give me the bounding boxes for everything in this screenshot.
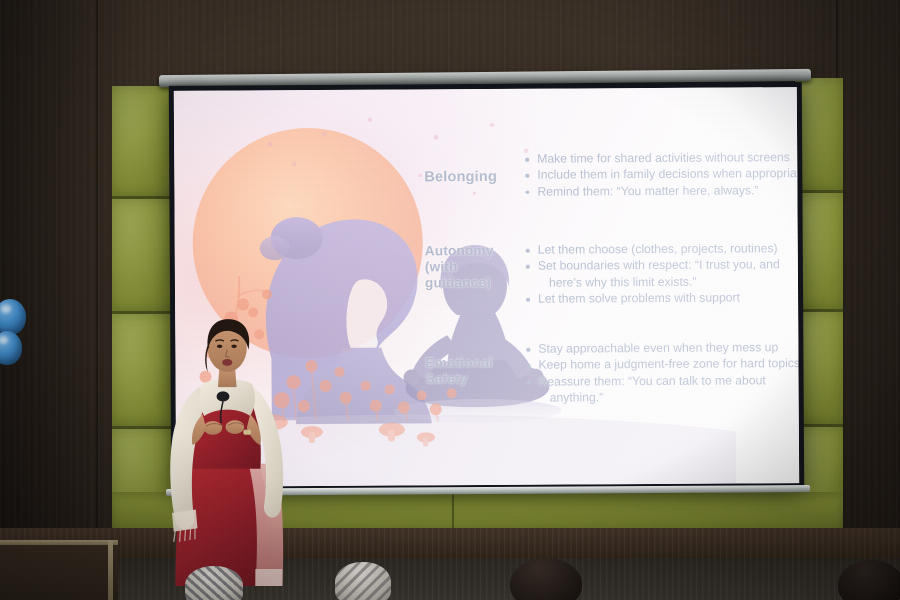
bullet-item: Stay approachable even when they mess up xyxy=(525,339,799,357)
podium-left-edge xyxy=(108,540,113,600)
audience-topi-cap xyxy=(185,566,243,600)
bullet-item-continuation: anything.” xyxy=(526,388,800,406)
bullet-item: Make time for shared activities without … xyxy=(524,149,799,167)
lapel-microphone-icon xyxy=(217,391,230,401)
presenter-eye-right xyxy=(231,345,236,348)
bullet-item: Keep home a judgment-free zone for hard … xyxy=(525,355,799,373)
acoustic-panel xyxy=(112,86,174,196)
presenter-pallu-fringe xyxy=(255,569,282,586)
audience-topi-cap xyxy=(335,562,391,600)
presenter-wristwatch xyxy=(243,430,251,435)
panel-seam xyxy=(452,492,454,530)
slide-section-belonging: Belonging Make time for shared activitie… xyxy=(174,149,797,153)
seminar-photo-scene: Belonging Make time for shared activitie… xyxy=(0,0,900,600)
acoustic-panel xyxy=(112,199,174,311)
presenter-eye-left xyxy=(217,345,222,348)
podium-top-edge xyxy=(0,540,118,545)
floor-shadow-band xyxy=(0,558,900,600)
bullet-item: Let them choose (clothes, projects, rout… xyxy=(525,240,780,258)
slide-section-autonomy: Autonomy (with guidance) Let them choose… xyxy=(175,240,798,244)
presenter-speaker xyxy=(155,300,325,600)
bullet-list-emotional-safety: Stay approachable even when they mess up… xyxy=(525,339,799,406)
bullet-item: Set boundaries with respect: “I trust yo… xyxy=(525,257,780,275)
presenter-shawl-fringe xyxy=(172,510,198,532)
section-heading-emotional-safety: Emotional Safety xyxy=(425,355,517,388)
wooden-podium-frame xyxy=(0,540,118,600)
bullet-list-autonomy: Let them choose (clothes, projects, rout… xyxy=(525,240,780,307)
presenter-mouth-open xyxy=(222,359,232,366)
bullet-item: Include them in family decisions when ap… xyxy=(524,165,799,183)
section-heading-belonging: Belonging xyxy=(424,169,519,187)
audience-head xyxy=(838,560,900,600)
bullet-item: Let them solve problems with support xyxy=(525,289,780,307)
bullet-item: Remind them: “You matter here, always.” xyxy=(524,182,799,200)
bullet-item: Reassure them: “You can talk to me about xyxy=(526,372,800,390)
wall-seam xyxy=(96,0,98,600)
bullet-item-continuation: here’s why this limit exists.” xyxy=(525,273,780,291)
wall-dado-band xyxy=(0,528,900,560)
section-heading-autonomy: Autonomy (with guidance) xyxy=(425,243,510,292)
bullet-list-belonging: Make time for shared activities without … xyxy=(524,149,799,200)
